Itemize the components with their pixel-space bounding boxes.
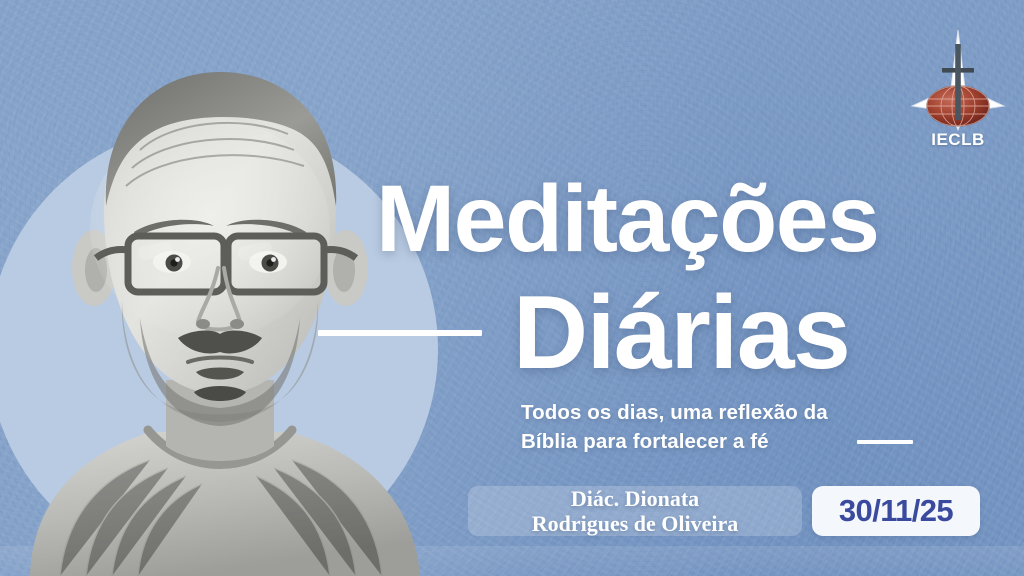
- date-badge-label: 30/11/25: [839, 493, 953, 529]
- subtitle: Todos os dias, uma reflexão da Bíblia pa…: [521, 398, 921, 456]
- speaker-name: Diác. Dionata Rodrigues de Oliveira: [468, 487, 802, 537]
- date-badge: 30/11/25: [812, 486, 980, 536]
- subtitle-rule: [857, 440, 913, 444]
- ieclb-logo: IECLB: [908, 26, 1008, 158]
- meditacoes-diarias-banner: IECLB Meditações Diárias Todos os dias, …: [0, 0, 1024, 576]
- page-title-line-2: Diárias: [513, 281, 849, 385]
- speaker-name-line-2: Rodrigues de Oliveira: [532, 512, 739, 537]
- title-rule: [318, 330, 482, 336]
- speaker-name-line-1: Diác. Dionata: [571, 487, 699, 512]
- page-title-line-1: Meditações: [376, 172, 878, 267]
- ieclb-logo-label: IECLB: [908, 130, 1008, 150]
- speaker-portrait: [0, 0, 450, 576]
- subtitle-line-1: Todos os dias, uma reflexão da: [521, 398, 921, 427]
